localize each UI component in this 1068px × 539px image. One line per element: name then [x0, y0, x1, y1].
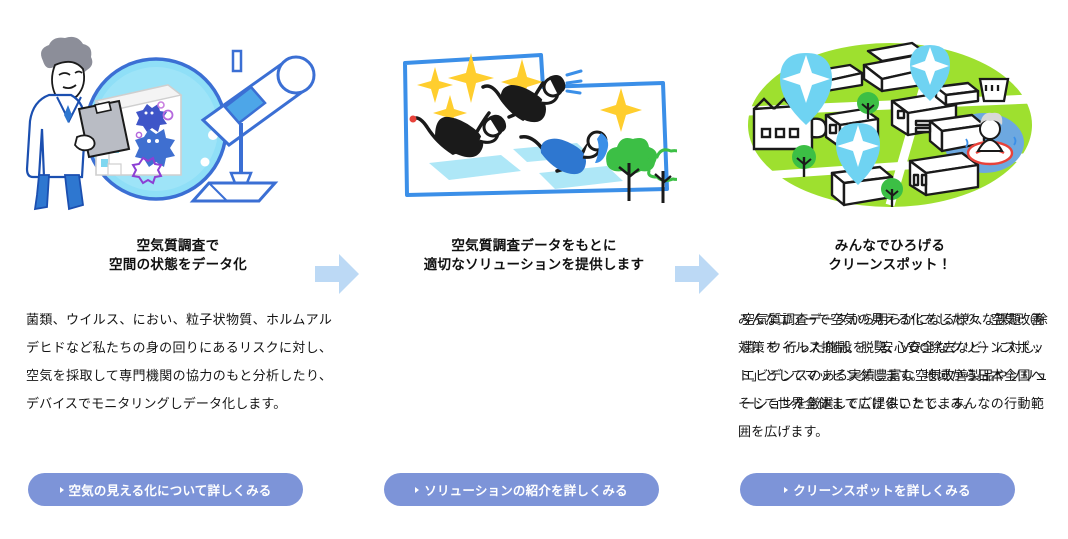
step-heading: 空気質調査データをもとに 適切なソリューションを提供します	[374, 236, 694, 274]
scientist-magnifier-building-microscope-icon	[13, 25, 343, 215]
cta-arrow-icon	[784, 487, 788, 493]
cta-label: ソリューションの紹介を詳しくみる	[424, 480, 627, 499]
three-step-section: 空気質調査で 空間の状態をデータ化 菌類、ウイルス、におい、粒子状物質、ホルムア…	[0, 0, 1068, 539]
step-column-solution-proposal: 空気質調査データをもとに 適切なソリューションを提供します 空気質調査データから…	[356, 0, 712, 539]
illustration-people-exercising	[356, 22, 712, 218]
steps-container: 空気質調査で 空間の状態をデータ化 菌類、ウイルス、におい、粒子状物質、ホルムア…	[0, 0, 1068, 539]
cta-label: 空気の見える化について詳しくみる	[69, 480, 272, 499]
illustration-scientist-magnifier	[0, 22, 356, 218]
step-heading: 空気質調査で 空間の状態をデータ化	[18, 236, 338, 274]
cta-arrow-icon	[60, 487, 64, 493]
step-column-air-quality-survey: 空気質調査で 空間の状態をデータ化 菌類、ウイルス、におい、粒子状物質、ホルムア…	[0, 0, 356, 539]
cta-clean-spot[interactable]: クリーンスポットを詳しくみる	[740, 473, 1015, 506]
step-body-text: みんなエアーで空気の見える化をしたり、空気改善対策を 行った施設を「安心安全なク…	[738, 306, 1044, 446]
people-exercising-clean-room-sparkles-icon	[391, 25, 677, 215]
cta-air-quality-visualization[interactable]: 空気の見える化について詳しくみる	[28, 473, 303, 506]
illustration-clean-spot-map	[712, 22, 1068, 218]
step-heading: みんなでひろげる クリーンスポット！	[730, 236, 1050, 274]
step-body-text: 菌類、ウイルス、におい、粒子状物質、ホルムアルデヒドなど私たちの身の回りにあるリ…	[26, 306, 332, 418]
cta-arrow-icon	[415, 487, 419, 493]
step-arrow-1-to-2-icon	[315, 252, 359, 296]
step-column-clean-spot-map: みんなでひろげる クリーンスポット！ みんなエアーで空気の見える化をしたり、空気…	[712, 0, 1068, 539]
cta-solution-introduction[interactable]: ソリューションの紹介を詳しくみる	[384, 473, 659, 506]
step-arrow-2-to-3-icon	[675, 252, 719, 296]
green-map-buildings-location-pins-icon	[740, 25, 1040, 215]
cta-label: クリーンスポットを詳しくみる	[793, 480, 970, 499]
